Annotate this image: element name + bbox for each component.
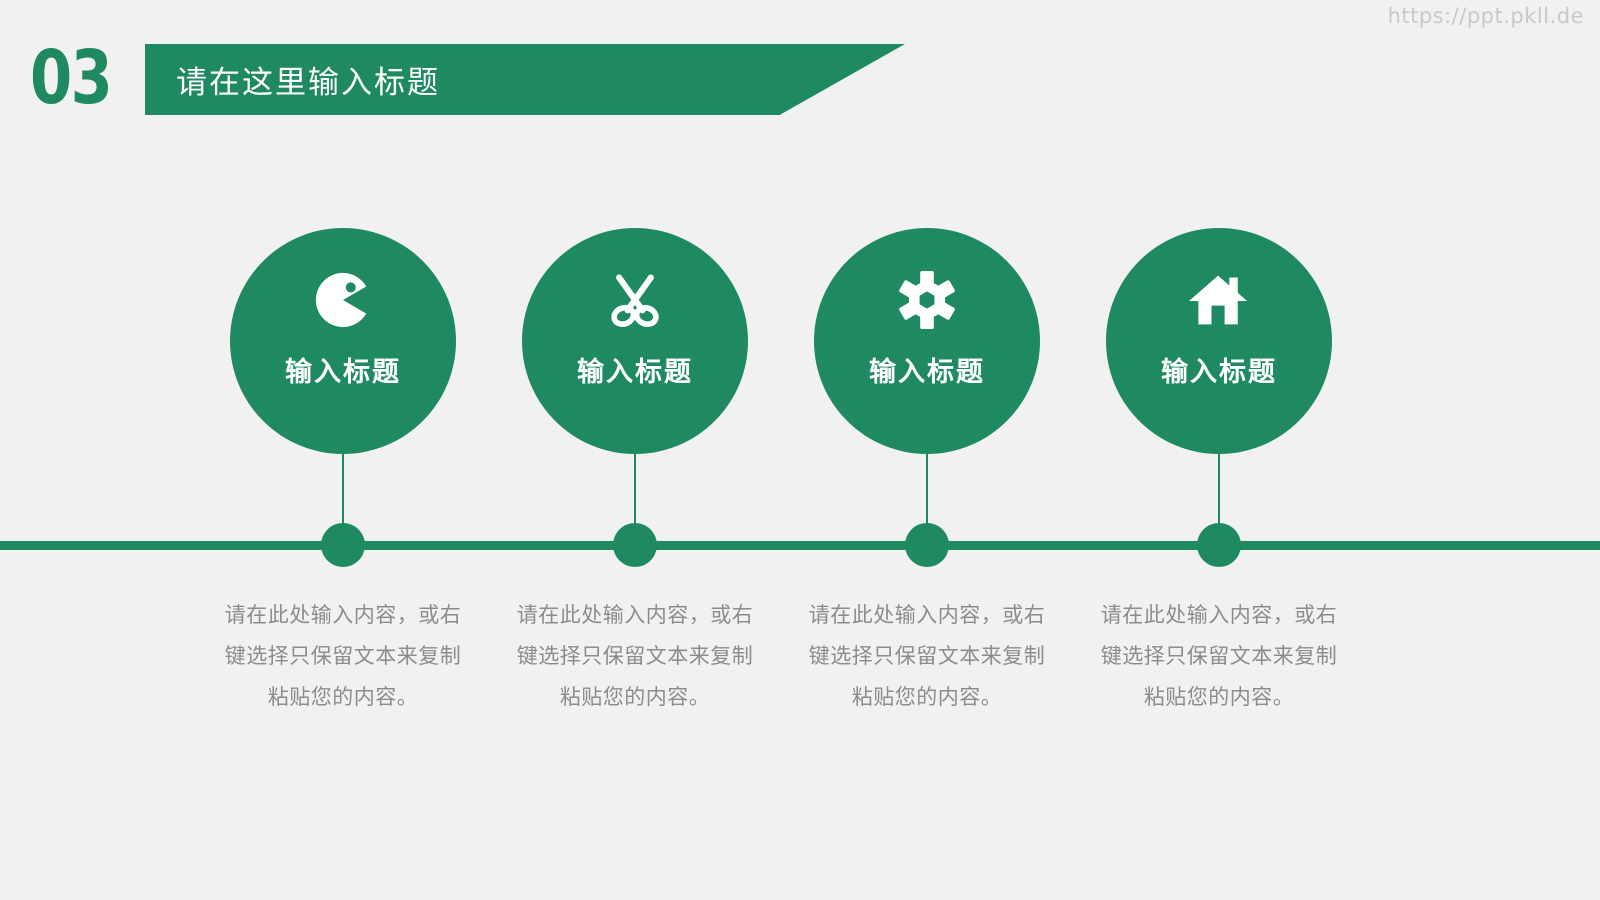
circle-badge-2[interactable]: 输入标题 [522, 228, 748, 454]
connector-line-4 [1218, 454, 1220, 530]
timeline-item-3[interactable]: 输入标题 请在此处输入内容，或右键选择只保留文本来复制粘贴您的内容。 [781, 0, 1073, 900]
timeline-item-2[interactable]: 输入标题 请在此处输入内容，或右键选择只保留文本来复制粘贴您的内容。 [489, 0, 781, 900]
slide-canvas: https://ppt.pkll.de 03 请在这里输入标题 输入标题 请在此… [0, 0, 1600, 900]
circle-badge-4[interactable]: 输入标题 [1106, 228, 1332, 454]
circle-badge-3[interactable]: 输入标题 [814, 228, 1040, 454]
scissors-icon [601, 266, 669, 334]
timeline-node-1[interactable] [321, 523, 365, 567]
circle-label-4: 输入标题 [1161, 350, 1277, 389]
connector-line-2 [634, 454, 636, 530]
timeline-item-1[interactable]: 输入标题 请在此处输入内容，或右键选择只保留文本来复制粘贴您的内容。 [197, 0, 489, 900]
timeline-item-4[interactable]: 输入标题 请在此处输入内容，或右键选择只保留文本来复制粘贴您的内容。 [1073, 0, 1365, 900]
timeline-columns: 输入标题 请在此处输入内容，或右键选择只保留文本来复制粘贴您的内容。 [0, 0, 1600, 900]
timeline-node-3[interactable] [905, 523, 949, 567]
connector-line-3 [926, 454, 928, 530]
circle-label-3: 输入标题 [869, 350, 985, 389]
description-text-4: 请在此处输入内容，或右键选择只保留文本来复制粘贴您的内容。 [1094, 595, 1344, 718]
connector-line-1 [342, 454, 344, 530]
timeline-node-2[interactable] [613, 523, 657, 567]
gear-icon [893, 266, 961, 334]
circle-badge-1[interactable]: 输入标题 [230, 228, 456, 454]
description-text-2: 请在此处输入内容，或右键选择只保留文本来复制粘贴您的内容。 [510, 595, 760, 718]
timeline-node-4[interactable] [1197, 523, 1241, 567]
description-text-1: 请在此处输入内容，或右键选择只保留文本来复制粘贴您的内容。 [218, 595, 468, 718]
circle-label-1: 输入标题 [285, 350, 401, 389]
house-icon [1185, 266, 1253, 334]
circle-label-2: 输入标题 [577, 350, 693, 389]
description-text-3: 请在此处输入内容，或右键选择只保留文本来复制粘贴您的内容。 [802, 595, 1052, 718]
pacman-icon [309, 266, 377, 334]
